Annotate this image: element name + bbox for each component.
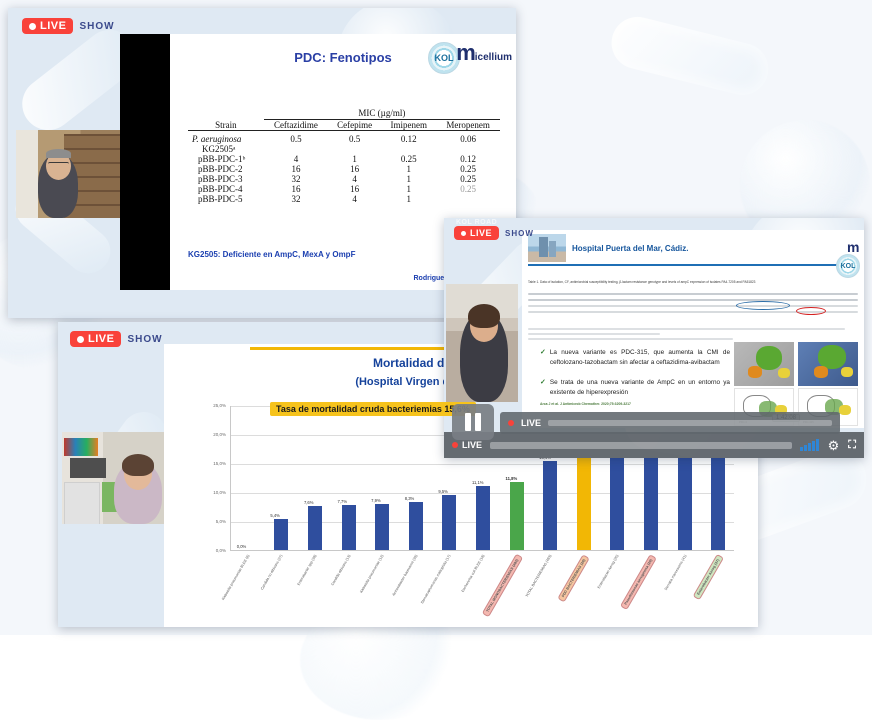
kol-logo: KOL bbox=[836, 254, 860, 278]
chart-bar bbox=[510, 482, 524, 550]
bullet-text: Se trata de una nueva variante de AmpC e… bbox=[550, 378, 730, 397]
chart-bar bbox=[375, 504, 389, 550]
chart-bar bbox=[442, 495, 456, 550]
chart-x-axis-labels: Klebsiella pneumoniae BLEE (6)Candida no… bbox=[230, 552, 734, 627]
micellium-logo-label: icellium bbox=[475, 52, 512, 63]
row-strain: pBB-PDC-2 bbox=[188, 164, 264, 174]
record-dot-icon bbox=[452, 442, 458, 448]
row-strain: pBB-PDC-1ᵇ bbox=[188, 154, 264, 164]
x-tick-label: Stenotrophomonas maltophilia (17) bbox=[420, 554, 451, 604]
bullet-item: ✓ La nueva variante es PDC-315, que aume… bbox=[540, 348, 730, 367]
live-label: LIVE bbox=[470, 228, 492, 238]
x-tick-label: Escherichia coli BLEE (18) bbox=[461, 554, 486, 593]
row-strain: P. aeruginosa bbox=[188, 131, 264, 145]
kol-logo-label: KOL bbox=[841, 263, 856, 270]
table-row: KG2505ᵃ bbox=[188, 144, 500, 154]
row-cell: 16 bbox=[328, 184, 381, 194]
hospital-building-2 bbox=[549, 241, 556, 257]
fullscreen-icon[interactable]: ⛶ bbox=[848, 440, 856, 451]
header-meropenem: Meropenem bbox=[436, 120, 500, 131]
row-cell: 4 bbox=[328, 174, 381, 184]
player-live-indicator: LIVE bbox=[452, 440, 482, 450]
check-icon: ✓ bbox=[540, 378, 546, 397]
row-cell: 4 bbox=[264, 154, 328, 164]
row-cell: 1 bbox=[381, 164, 436, 174]
chart-bar bbox=[476, 486, 490, 550]
micellium-logo-initial: m bbox=[456, 44, 474, 63]
row-strain: pBB-PDC-5 bbox=[188, 194, 264, 204]
kol-logo-label: KOL bbox=[435, 53, 454, 63]
player-control-bar[interactable]: LIVE ⚙ ⛶ bbox=[444, 432, 864, 458]
player-live-label: LIVE bbox=[462, 440, 482, 450]
y-tick-label: 0,0% bbox=[194, 548, 226, 553]
protein-structure-b bbox=[798, 342, 858, 386]
row-cell: 4 bbox=[328, 194, 381, 204]
x-tick-label: TOTAL BACTERIEMIAS (483) bbox=[525, 554, 553, 598]
row-strain: pBB-PDC-3 bbox=[188, 174, 264, 184]
bar-value-label: 7,9% bbox=[371, 498, 381, 503]
table-footnotes bbox=[528, 326, 858, 340]
webcam-printer bbox=[70, 458, 106, 478]
brand-show-label: SHOW bbox=[79, 21, 114, 32]
y-tick-label: 10,0% bbox=[194, 490, 226, 495]
chart-bar bbox=[610, 450, 624, 550]
brand-kolroad-label: KOL ROAD bbox=[456, 219, 497, 226]
protein-structure-a bbox=[734, 342, 794, 386]
chart-bar bbox=[342, 505, 356, 550]
bar-value-label: 8,3% bbox=[405, 496, 415, 501]
row-cell: 16 bbox=[264, 164, 328, 174]
webcam-shelf-items bbox=[64, 438, 98, 456]
record-dot-icon bbox=[77, 336, 84, 343]
y-tick-label: 15,0% bbox=[194, 461, 226, 466]
hospital-building-1 bbox=[539, 237, 548, 257]
grid-line bbox=[231, 464, 734, 465]
row-cell: 32 bbox=[264, 194, 328, 204]
row-cell: 16 bbox=[328, 164, 381, 174]
mortality-rate-callout: Tasa de mortalidad cruda bacteriemias 15… bbox=[270, 402, 476, 416]
webcam-wall bbox=[16, 130, 38, 218]
x-tick-label: Enterobacter spp (38) bbox=[297, 554, 318, 586]
table-row: P. aeruginosa 0.5 0.5 0.12 0.06 bbox=[188, 131, 500, 145]
table-row: pBB-PDC-2 16 16 1 0.25 bbox=[188, 164, 500, 174]
row-cell: 0.06 bbox=[436, 131, 500, 145]
stream-window-pdc-fenotipos[interactable]: LIVE SHOW PDC: Fenotipos KOL m icellium bbox=[8, 8, 516, 318]
structure-panels-top bbox=[734, 342, 858, 386]
x-tick-label: Enterobacter Aerog (37) bbox=[693, 554, 724, 600]
chart-bar bbox=[274, 519, 288, 550]
micellium-logo: m icellium bbox=[456, 44, 512, 63]
row-cell: 0.12 bbox=[381, 131, 436, 145]
bullet-text: La nueva variante es PDC-315, que aument… bbox=[550, 348, 730, 367]
row-cell: 32 bbox=[264, 174, 328, 184]
overlay-progress-bar[interactable] bbox=[548, 420, 832, 426]
annotation-circle-blue bbox=[736, 301, 790, 310]
row-cell: 0.5 bbox=[328, 131, 381, 145]
overlay-player-bar[interactable]: LIVE bbox=[500, 412, 840, 434]
signal-bars-icon[interactable] bbox=[800, 439, 819, 451]
row-cell bbox=[436, 194, 500, 204]
brand-show-label: SHOW bbox=[505, 229, 534, 238]
bar-value-label: 11,8% bbox=[506, 476, 518, 481]
row-cell: 16 bbox=[264, 184, 328, 194]
row-cell: 0.5 bbox=[264, 131, 328, 145]
live-badge-group: LIVE SHOW bbox=[22, 18, 115, 34]
title-divider bbox=[528, 264, 858, 266]
bar-value-label: 7,6% bbox=[304, 500, 314, 505]
webcam-tile-speaker-1[interactable] bbox=[16, 130, 120, 218]
row-cell: 1 bbox=[381, 174, 436, 184]
live-badge: LIVE bbox=[70, 331, 121, 347]
y-tick-label: 20,0% bbox=[194, 432, 226, 437]
webcam-person-hair bbox=[122, 454, 154, 476]
header-imipenem: Imipenem bbox=[381, 120, 436, 131]
row-strain: pBB-PDC-4 bbox=[188, 184, 264, 194]
record-dot-icon bbox=[508, 420, 514, 426]
x-tick-label: Acinetobacter baumannii (39) bbox=[391, 554, 418, 597]
live-label: LIVE bbox=[40, 20, 66, 32]
record-dot-icon bbox=[29, 23, 36, 30]
row-strain-second-line: KG2505ᵃ bbox=[188, 144, 264, 154]
table-row: pBB-PDC-4 16 16 1 0.25 bbox=[188, 184, 500, 194]
bar-value-label: 7,7% bbox=[338, 499, 348, 504]
table-row: pBB-PDC-3 32 4 1 0.25 bbox=[188, 174, 500, 184]
presentation-slide-2: Hospital Puerta del Mar, Cádiz. m KOL Ta… bbox=[522, 230, 864, 428]
table-caption: Table 1. Data of isolation, CF, antimicr… bbox=[528, 280, 858, 284]
webcam-tile-speaker-3[interactable] bbox=[446, 284, 518, 402]
slide-note: KG2505: Deficiente en AmpC, MexA y OmpF bbox=[188, 250, 355, 259]
bullet-item: ✓ Se trata de una nueva variante de AmpC… bbox=[540, 378, 730, 397]
live-badge: KOL ROAD LIVE bbox=[454, 226, 499, 240]
webcam-person-glasses bbox=[48, 162, 69, 168]
row-cell: 0.25 bbox=[436, 184, 500, 194]
player-progress-bar[interactable] bbox=[490, 442, 792, 449]
slide-title: Hospital Puerta del Mar, Cádiz. bbox=[572, 244, 688, 253]
chart-bar bbox=[678, 450, 692, 550]
webcam-person-hair bbox=[46, 149, 71, 158]
live-badge-group: LIVE SHOW bbox=[70, 331, 163, 347]
live-badge-group: KOL ROAD LIVE SHOW bbox=[454, 226, 534, 240]
x-tick-label: Serratia marcescens (41) bbox=[663, 554, 687, 591]
x-tick-label: Klebsiella pneumoniae (12) bbox=[359, 554, 384, 594]
pause-icon-bar-right bbox=[475, 413, 481, 431]
live-badge: LIVE bbox=[22, 18, 73, 34]
y-tick-label: 25,0% bbox=[194, 403, 226, 408]
chart-bar bbox=[644, 450, 658, 550]
pause-icon-bar-left bbox=[465, 413, 471, 431]
row-cell: 0.12 bbox=[436, 154, 500, 164]
x-tick-label: Klebsiella pneumoniae BLEE (6) bbox=[221, 554, 250, 601]
header-mic-group: MIC (µg/ml) bbox=[264, 108, 500, 120]
gear-icon[interactable]: ⚙ bbox=[828, 439, 840, 452]
bar-value-label: 5,4% bbox=[270, 513, 280, 518]
header-strain: Strain bbox=[188, 108, 264, 131]
annotation-circle-red bbox=[796, 307, 826, 315]
slide-header: Hospital Puerta del Mar, Cádiz. m bbox=[522, 230, 864, 262]
bar-value-label: 11,1% bbox=[472, 480, 484, 485]
record-dot-icon bbox=[461, 231, 466, 236]
live-label: LIVE bbox=[88, 333, 114, 345]
row-cell: 0.25 bbox=[436, 174, 500, 184]
webcam-cabinet bbox=[64, 482, 100, 524]
chart-bar bbox=[577, 451, 591, 550]
slide-citation: Arca J et al. J Antimicrob Chemother. 20… bbox=[540, 402, 631, 406]
kol-logo: KOL bbox=[428, 42, 460, 74]
pause-button[interactable] bbox=[452, 404, 494, 440]
row-cell: 1 bbox=[381, 194, 436, 204]
brand-show-label: SHOW bbox=[127, 334, 162, 345]
chart-bar bbox=[409, 502, 423, 550]
chart-bar bbox=[543, 461, 557, 550]
x-tick-label: Pseudomonas aeruginosa (29) bbox=[620, 554, 657, 610]
webcam-person-hair bbox=[468, 304, 500, 328]
x-tick-label: TOTAL MONOBACTERIEMIAS (483) bbox=[481, 554, 522, 617]
bar-value-label: 9,5% bbox=[438, 489, 448, 494]
row-cell: 1 bbox=[381, 184, 436, 194]
mic-table: Strain MIC (µg/ml) Ceftazidime Cefepime … bbox=[188, 108, 500, 204]
micellium-logo-initial: m bbox=[847, 242, 858, 253]
row-cell: 0.25 bbox=[436, 164, 500, 174]
data-table-blurred bbox=[528, 290, 858, 322]
chart-bar bbox=[711, 450, 725, 550]
x-tick-label: Candida albicans (13) bbox=[330, 554, 351, 586]
row-cell: 1 bbox=[328, 154, 381, 164]
webcam-tile-speaker-2[interactable] bbox=[62, 432, 164, 524]
chart-bar bbox=[308, 506, 322, 550]
table-row: pBB-PDC-5 32 4 1 bbox=[188, 194, 500, 204]
y-tick-label: 5,0% bbox=[194, 519, 226, 524]
table-row: pBB-PDC-1ᵇ 4 1 0.25 0.12 bbox=[188, 154, 500, 164]
mic-table-container: Strain MIC (µg/ml) Ceftazidime Cefepime … bbox=[188, 108, 500, 204]
x-tick-label: Enterobacter Aerog (20) bbox=[597, 554, 620, 589]
bullet-list: ✓ La nueva variante es PDC-315, que aume… bbox=[540, 348, 730, 397]
table-group-header-row: Strain MIC (µg/ml) bbox=[188, 108, 500, 120]
header-ceftazidime: Ceftazidime bbox=[264, 120, 328, 131]
header-cefepime: Cefepime bbox=[328, 120, 381, 131]
x-tick-label: PDC BACTERIEMIAS (28) bbox=[557, 554, 590, 602]
overlay-live-label: LIVE bbox=[521, 418, 541, 428]
x-tick-label: Candida no albicans (27) bbox=[260, 554, 283, 591]
bar-value-label: 0,0% bbox=[237, 544, 247, 549]
player-icon-group[interactable]: ⚙ ⛶ bbox=[800, 439, 856, 452]
check-icon: ✓ bbox=[540, 348, 546, 367]
row-cell: 0.25 bbox=[381, 154, 436, 164]
